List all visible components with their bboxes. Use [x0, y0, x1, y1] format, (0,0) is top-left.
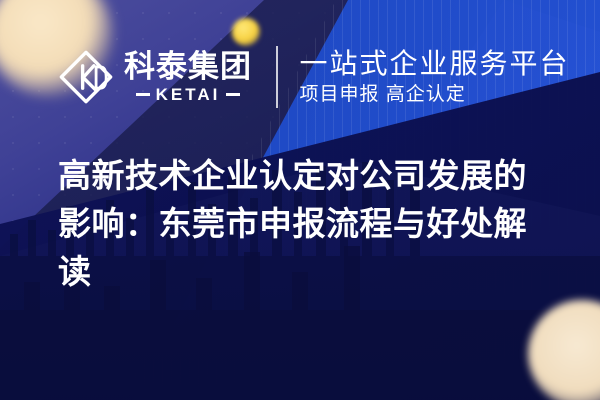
header-tagline: 一站式企业服务平台 项目申报 高企认定: [300, 48, 570, 106]
dash-left-icon: [136, 93, 150, 96]
brand-name-en-row: KETAI: [136, 86, 241, 103]
brand-name-en: KETAI: [156, 86, 221, 103]
brand-logo[interactable]: 科泰集团 KETAI: [58, 49, 252, 105]
dash-right-icon: [226, 93, 240, 96]
brand-wordmark: 科泰集团 KETAI: [124, 51, 252, 103]
ketai-diamond-kd-monogram-icon: [58, 49, 114, 105]
page-title: 高新技术企业认定对公司发展的影响：东莞市申报流程与好处解读: [58, 152, 558, 297]
brand-name-cn: 科泰集团: [124, 51, 252, 82]
banner-header: 科泰集团 KETAI 一站式企业服务平台 项目申报 高企认定: [0, 38, 600, 116]
header-divider: [276, 46, 278, 108]
tagline-sub: 项目申报 高企认定: [300, 85, 570, 106]
tagline-main: 一站式企业服务平台: [300, 48, 570, 79]
promo-banner: 科泰集团 KETAI 一站式企业服务平台 项目申报 高企认定 高新技术企业认定对…: [0, 0, 600, 400]
